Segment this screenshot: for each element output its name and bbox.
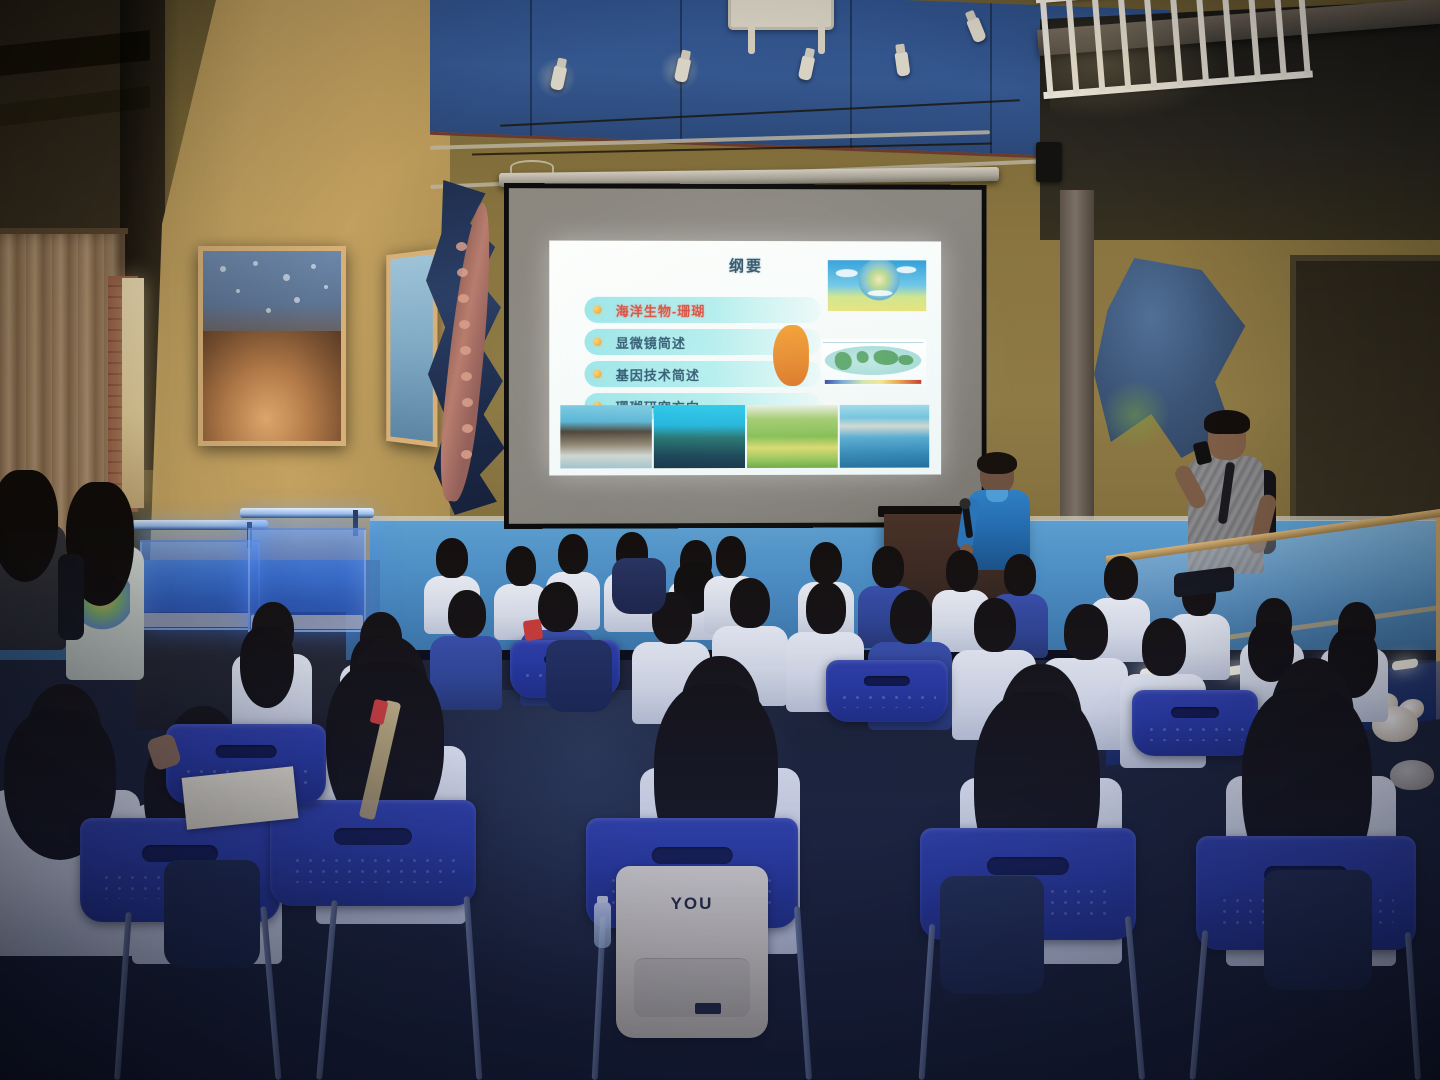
adult-backpack [58, 554, 84, 640]
vent-stem [748, 20, 755, 54]
navy-backpack [164, 860, 260, 968]
slide-bullet-1-label: 海洋生物-珊瑚 [616, 301, 706, 320]
globe-sky-illustration [828, 260, 926, 311]
red-scarf [523, 619, 544, 641]
chair-mid[interactable] [826, 660, 948, 722]
wall-speaker-icon [1036, 142, 1062, 182]
shell-specimen-foreground-2 [1390, 760, 1434, 790]
anemone-clownfish-photo [747, 405, 838, 468]
backpack-brand-tag [695, 1003, 721, 1014]
presenter-collar [986, 490, 1008, 502]
backpack-on-chair [546, 640, 612, 712]
world-map-with-legend [820, 339, 925, 386]
clownfish-shape [773, 325, 808, 386]
mural-kelp [1100, 380, 1170, 450]
coral-photo-bubbles [203, 251, 341, 441]
water-bottle [594, 902, 611, 948]
rocky-shoreline-photo [561, 405, 652, 468]
backpack-on-chair [612, 558, 666, 614]
projection-screen: 纲要 海洋生物-珊瑚 显微镜简述 [505, 170, 997, 530]
backpack-pocket [634, 958, 750, 1017]
bullet-dot-icon [594, 370, 602, 378]
slide-bullet-2-label: 显微镜简述 [616, 333, 686, 352]
reef-ocean-photo [840, 405, 930, 468]
slide-content: 纲要 海洋生物-珊瑚 显微镜简述 [549, 241, 941, 476]
curtain-rod [0, 228, 128, 234]
framed-coral-photograph [198, 246, 346, 446]
screen-board: 纲要 海洋生物-珊瑚 显微镜简述 [504, 183, 987, 529]
bullet-dot-icon [594, 338, 602, 346]
presenter-hair [977, 452, 1017, 474]
bottle-cap [597, 896, 608, 903]
standing-adult-left-2 [62, 480, 144, 680]
backpack-text: YOU [671, 894, 714, 914]
screen-surface: 纲要 海洋生物-珊瑚 显微镜简述 [509, 188, 982, 524]
standing-man-hair [1204, 410, 1250, 434]
mezzanine-railing [1036, 0, 1316, 126]
map-color-legend [825, 380, 922, 384]
slide-photo-strip [561, 405, 930, 469]
projected-slide: 纲要 海洋生物-珊瑚 显微镜简述 [549, 241, 941, 476]
window-light-strip [122, 278, 144, 508]
slide-bullet-3-label: 基因技术简述 [616, 365, 700, 384]
lecture-hall-photo: 纲要 海洋生物-珊瑚 显微镜简述 [0, 0, 1440, 1080]
cream-backpack: YOU [616, 866, 768, 1038]
bullet-dot-icon [594, 306, 602, 314]
slide-bullet-1: 海洋生物-珊瑚 [585, 297, 821, 323]
navy-backpack [1264, 870, 1372, 990]
scuba-diver-photo [654, 405, 745, 468]
navy-backpack [940, 876, 1044, 994]
vent-stem-secondary [818, 20, 825, 54]
